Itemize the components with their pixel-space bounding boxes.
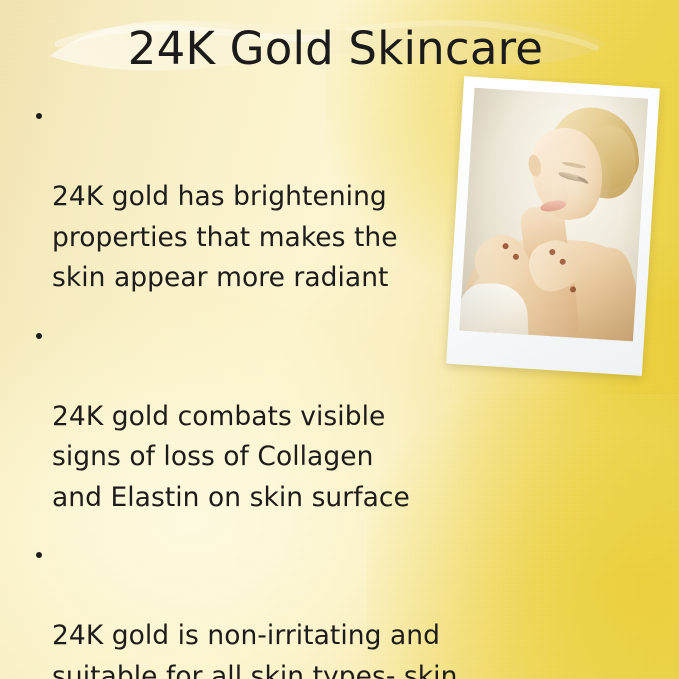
list-item: 24K gold is non-irritating and suitable … xyxy=(30,535,650,679)
page-title: 24K Gold Skincare xyxy=(0,24,679,74)
list-item-text: 24K gold combats visible signs of loss o… xyxy=(52,401,410,513)
list-item-text: 24K gold is non-irritating and suitable … xyxy=(52,620,520,679)
bullet-dot-icon xyxy=(36,333,42,339)
polaroid-photo-frame xyxy=(446,76,660,376)
bullet-dot-icon xyxy=(36,552,42,558)
list-item-text: 24K gold has brightening properties that… xyxy=(52,181,398,293)
bullet-dot-icon xyxy=(36,113,42,119)
model-photo xyxy=(459,88,648,341)
infographic-canvas: 24K Gold Skincare 24K gold has brighteni… xyxy=(0,0,679,679)
